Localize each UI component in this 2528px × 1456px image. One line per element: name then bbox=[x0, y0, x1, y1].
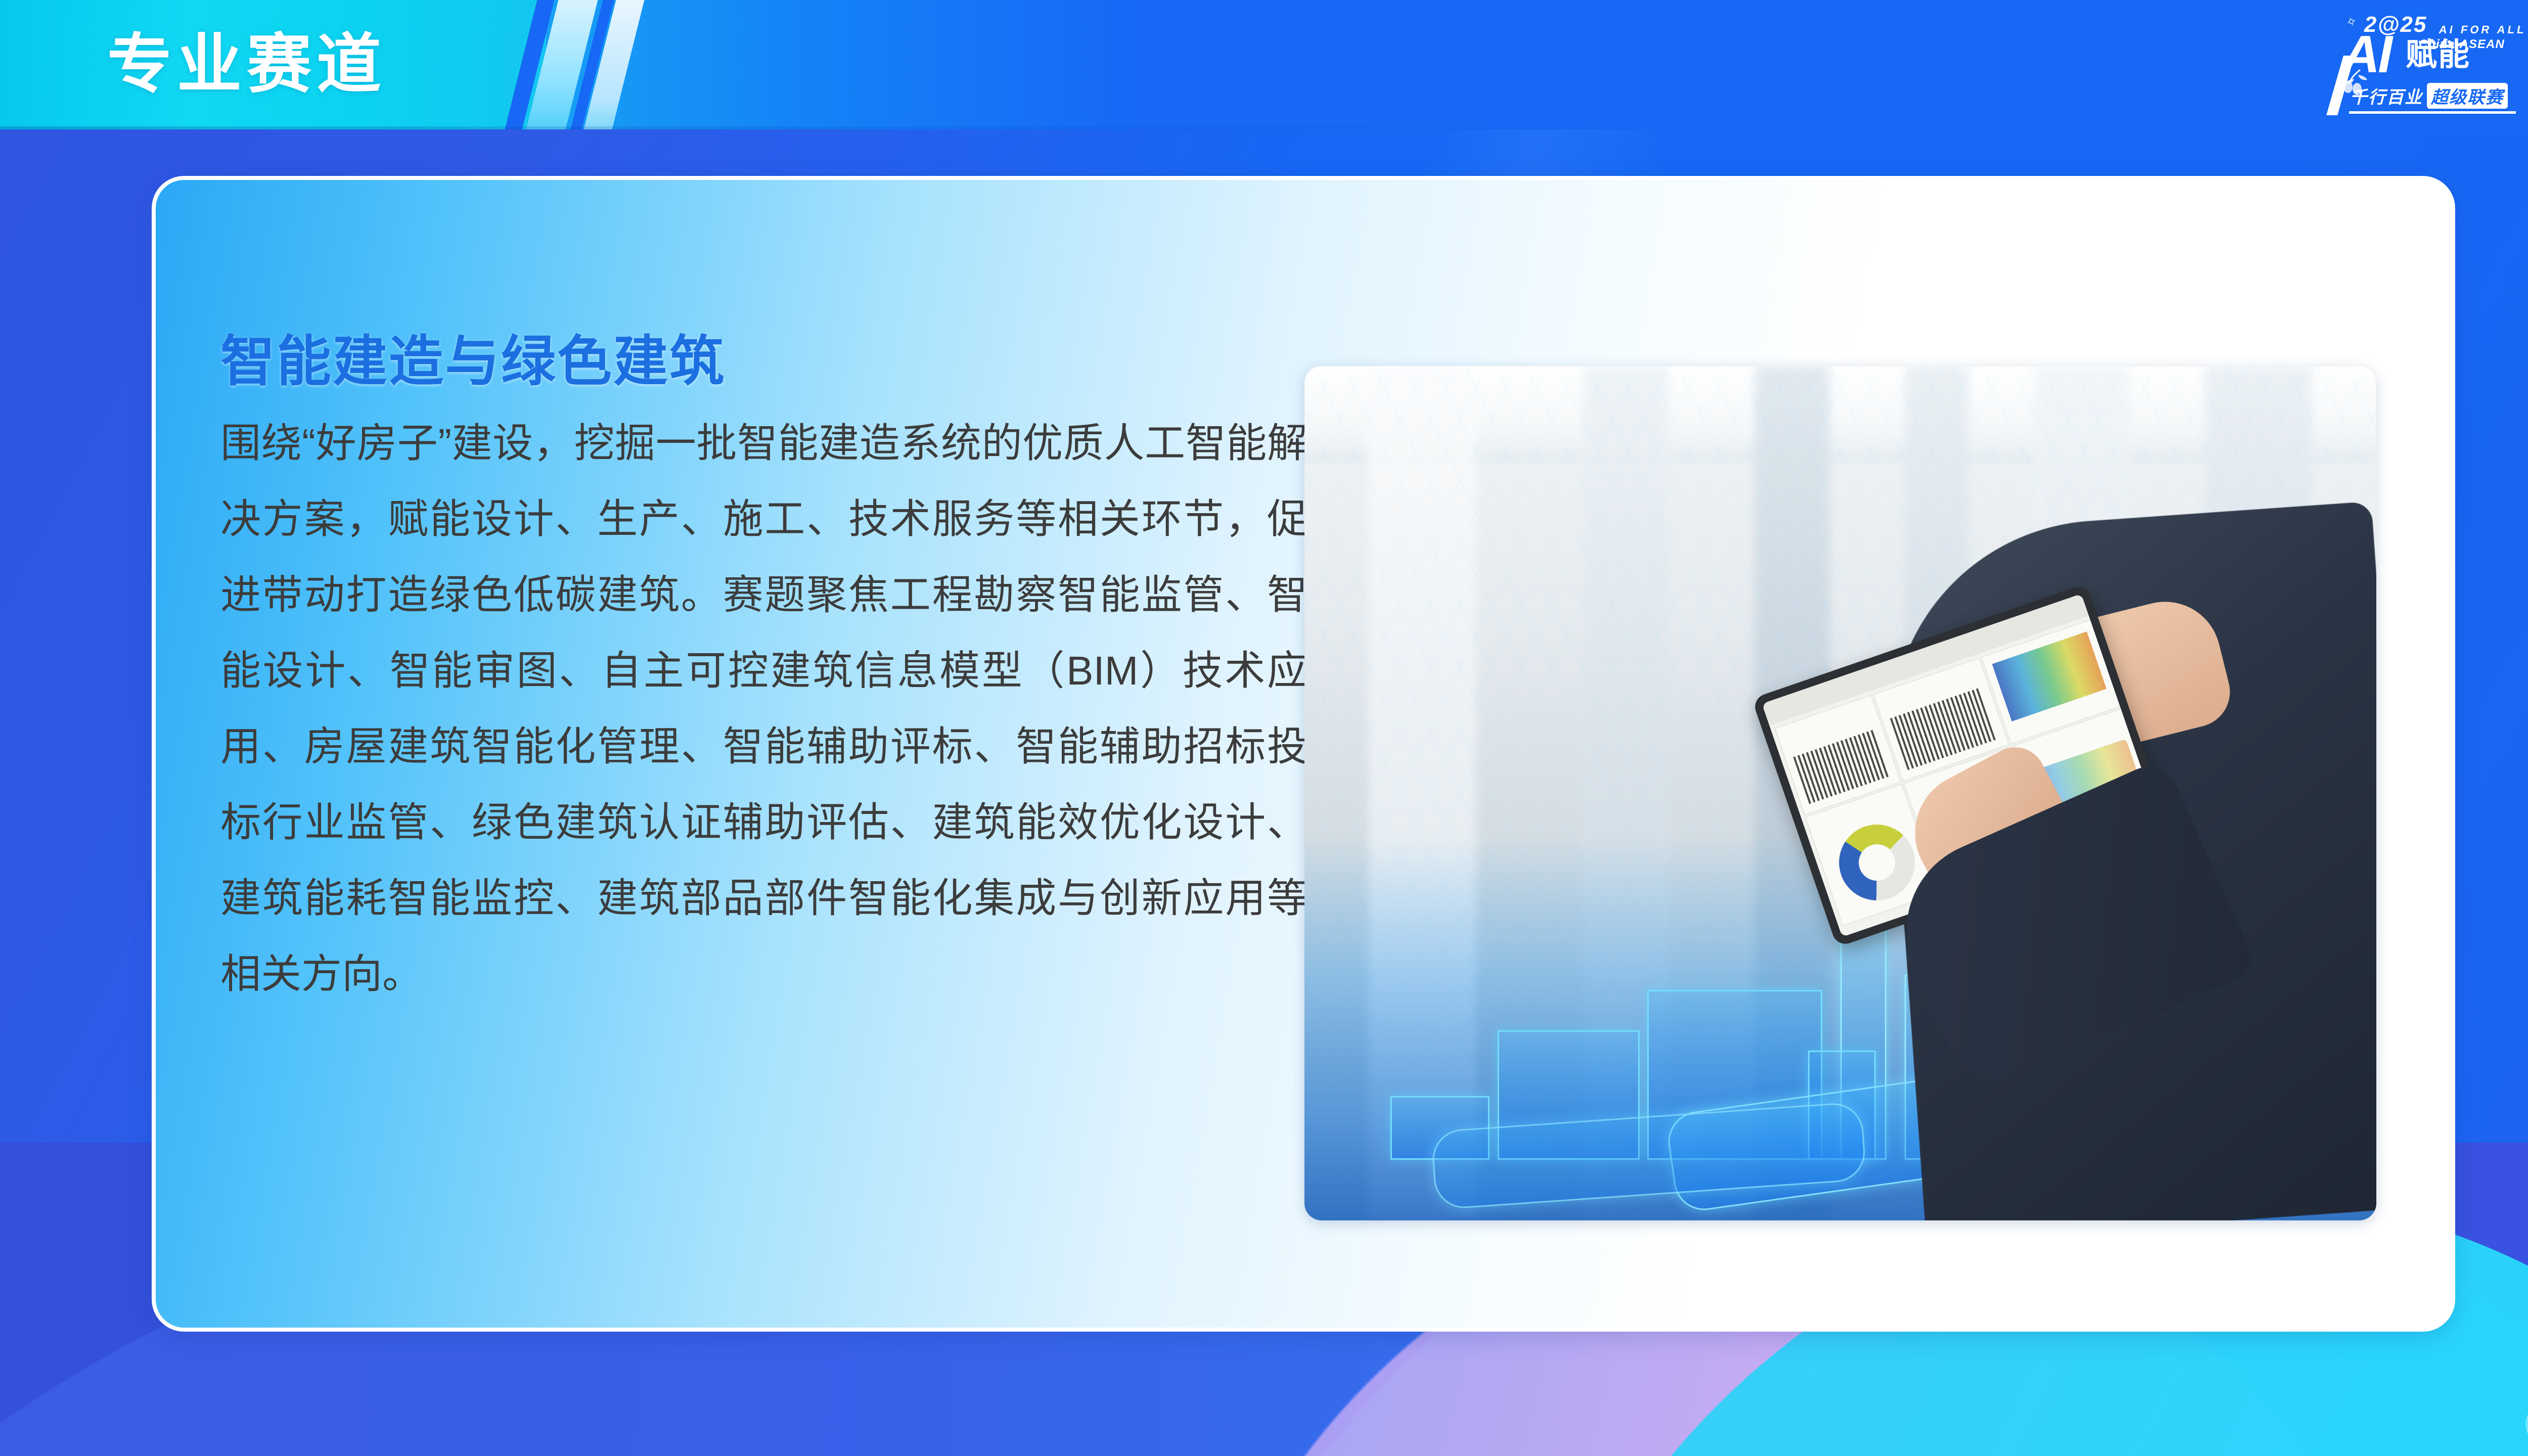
logo-subtitle-left: 千行百业 bbox=[2350, 88, 2423, 107]
logo-subtitle-badge: 超级联赛 bbox=[2427, 83, 2508, 109]
page-title: 专业赛道 bbox=[107, 5, 386, 124]
decorative-corner-cyan bbox=[2457, 0, 2528, 1456]
logo-underline bbox=[2349, 111, 2516, 114]
logo-tagline-en: AI FOR ALL bbox=[2438, 23, 2527, 36]
content-card-inner: 智能建造与绿色建筑 围绕“好房子”建设，挖掘一批智能建造系统的优质人工智能解决方… bbox=[156, 180, 2451, 1328]
slide-root: 专业赛道 ✧ 2@25 AI 赋能 AI FOR ALL China-ASEAN… bbox=[0, 0, 2528, 1456]
section-title: 智能建造与绿色建筑 bbox=[220, 317, 726, 396]
header-bottom-shadow bbox=[0, 126, 2528, 129]
logo-subtitle: 千行百业超级联赛 bbox=[2350, 83, 2508, 109]
content-card: 智能建造与绿色建筑 围绕“好房子”建设，挖掘一批智能建造系统的优质人工智能解决方… bbox=[152, 176, 2455, 1332]
illustration-photo bbox=[1304, 366, 2376, 1220]
section-body-text: 围绕“好房子”建设，挖掘一批智能建造系统的优质人工智能解决方案，赋能设计、生产、… bbox=[220, 405, 1307, 1012]
logo-ai-text: AI bbox=[2342, 29, 2390, 80]
logo-region-en: China-ASEAN bbox=[2419, 37, 2505, 52]
event-logo: ✧ 2@25 AI 赋能 AI FOR ALL China-ASEAN 千行百业… bbox=[2320, 7, 2528, 123]
page-header: 专业赛道 ✧ 2@25 AI 赋能 AI FOR ALL China-ASEAN… bbox=[0, 0, 2528, 129]
